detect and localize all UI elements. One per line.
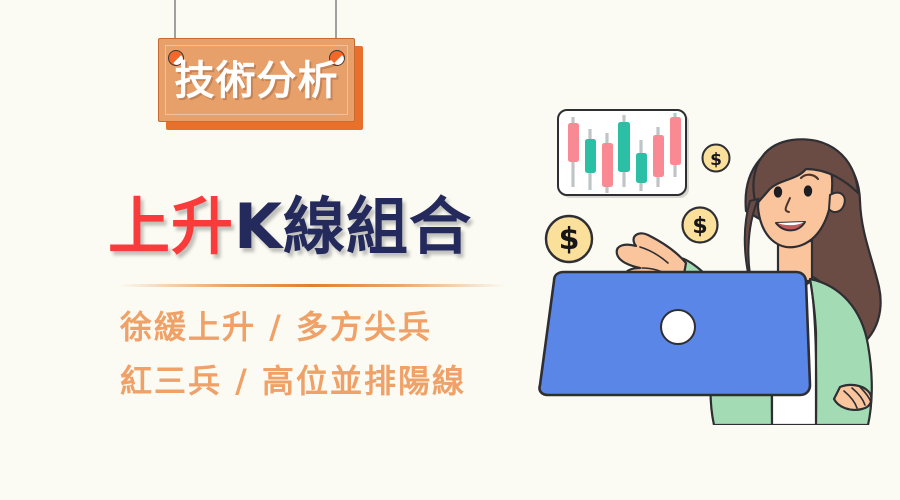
illustration-group: $ $ $ bbox=[510, 95, 900, 425]
coin-medium-right: $ bbox=[683, 208, 718, 243]
svg-text:$: $ bbox=[559, 222, 580, 257]
laptop bbox=[539, 272, 810, 395]
page-title-red: 上升 bbox=[108, 190, 234, 263]
sign-label: 技術分析 bbox=[159, 59, 354, 103]
coin-large-left: $ bbox=[546, 216, 592, 262]
candlestick-chart bbox=[558, 110, 689, 198]
sign-face: 技術分析 bbox=[158, 38, 355, 122]
page-title-navy: K線組合 bbox=[234, 190, 472, 263]
page-title: 上升K線組合 bbox=[108, 192, 472, 262]
title-divider bbox=[118, 284, 506, 287]
laptop-logo-icon bbox=[661, 310, 695, 344]
subtitle-line-1: 徐緩上升 / 多方尖兵 bbox=[120, 308, 432, 346]
svg-text:$: $ bbox=[710, 150, 722, 170]
svg-text:$: $ bbox=[692, 214, 707, 239]
sign-hanging-strings bbox=[0, 0, 900, 70]
coin-small-top-right: $ bbox=[703, 145, 730, 172]
eye-right bbox=[804, 185, 812, 196]
subtitle-line-2: 紅三兵 / 高位並排陽線 bbox=[120, 362, 466, 400]
poster-canvas: 技術分析 上升K線組合 徐緩上升 / 多方尖兵 紅三兵 / 高位並排陽線 bbox=[0, 0, 900, 500]
ear bbox=[829, 193, 845, 212]
illustration-svg: $ $ $ bbox=[510, 95, 900, 425]
eye-left bbox=[774, 186, 782, 197]
hanging-sign: 技術分析 bbox=[158, 38, 363, 130]
